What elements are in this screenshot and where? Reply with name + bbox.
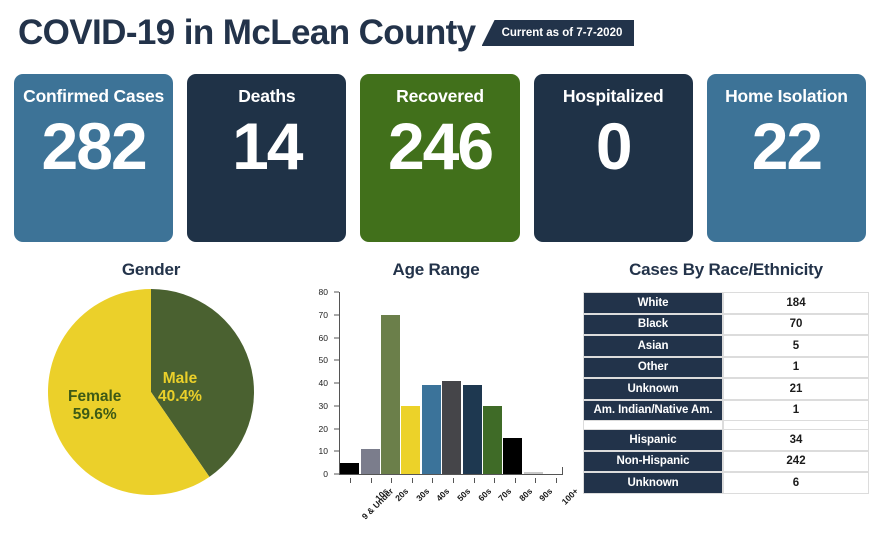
bar-slot <box>340 292 360 474</box>
y-axis-tick-label: 80 <box>319 287 328 297</box>
x-axis-labels: 9 & Under10s20s30s40s50s60s70s80s90s100+ <box>340 478 570 538</box>
table-row-value: 5 <box>723 335 869 357</box>
x-axis-line <box>339 474 563 475</box>
gender-chart-title: Gender <box>6 260 296 280</box>
page-title: COVID-19 in McLean County <box>18 13 476 53</box>
bar-slot <box>442 292 462 474</box>
table-row-label: Other <box>583 357 723 379</box>
table-row-value: 1 <box>723 400 869 422</box>
status-badge: Current as of 7-7-2020 <box>482 20 635 46</box>
age-range-chart: 01020304050607080 9 & Under10s20s30s40s5… <box>304 292 568 492</box>
stat-card-value: 22 <box>752 113 821 179</box>
bar-series <box>340 292 564 474</box>
x-axis-tick-mark <box>515 478 516 483</box>
x-axis-tick-label: 80s <box>517 486 534 503</box>
bar-slot <box>483 292 503 474</box>
table-row-label: White <box>583 292 723 314</box>
stat-card-home-isolation: Home Isolation22 <box>707 74 866 242</box>
y-axis-tick-label: 60 <box>319 333 328 343</box>
stat-card-value: 14 <box>232 113 301 179</box>
x-axis-tick-label: 70s <box>496 486 513 503</box>
table-row-value: 34 <box>723 429 869 451</box>
bar-slot <box>544 292 564 474</box>
pie-slice-label-male: Male 40.4% <box>158 370 202 405</box>
bar-60s <box>463 385 482 474</box>
bar-slot <box>421 292 441 474</box>
bar-slot <box>401 292 421 474</box>
pie-slice-label-female: Female 59.6% <box>68 388 121 423</box>
stat-card-hospitalized: Hospitalized0 <box>534 74 693 242</box>
table-spacer-cell <box>583 421 723 429</box>
table-row-label: Asian <box>583 335 723 357</box>
table-row-value: 21 <box>723 378 869 400</box>
covid-dashboard: COVID-19 in McLean County Current as of … <box>0 0 880 546</box>
table-row: Unknown21 <box>583 378 869 400</box>
stat-card-recovered: Recovered246 <box>360 74 519 242</box>
x-axis-tick-label: 40s <box>435 486 452 503</box>
x-axis-tick-mark <box>371 478 372 483</box>
age-range-chart-title: Age Range <box>296 260 576 280</box>
bar-10s <box>361 449 380 474</box>
bar-slot <box>360 292 380 474</box>
bar-40s <box>422 385 441 474</box>
race-table-title: Cases By Race/Ethnicity <box>578 260 874 280</box>
bar-slot <box>523 292 543 474</box>
charts-row: Gender Male 40.4% Female 59.6% Age Range… <box>0 250 880 546</box>
table-row-label: Black <box>583 314 723 336</box>
stat-card-value: 246 <box>388 113 492 179</box>
bar-50s <box>442 381 461 474</box>
race-ethnicity-table: White184Black70Asian5Other1Unknown21Am. … <box>583 292 869 494</box>
x-axis-tick-mark <box>474 478 475 483</box>
stat-card-label: Deaths <box>232 87 301 107</box>
x-axis-tick-mark <box>432 478 433 483</box>
race-ethnicity-panel: Cases By Race/Ethnicity White184Black70A… <box>578 260 874 494</box>
stat-card-deaths: Deaths14 <box>187 74 346 242</box>
stat-card-label: Home Isolation <box>719 87 854 107</box>
bar-9-under <box>340 463 359 474</box>
stat-card-label: Hospitalized <box>557 87 670 107</box>
x-axis-tick-label: 50s <box>455 486 472 503</box>
table-row: Am. Indian/Native Am.1 <box>583 400 869 422</box>
bar-90s <box>524 472 543 474</box>
stat-card-value: 282 <box>42 113 146 179</box>
bar-70s <box>483 406 502 474</box>
x-axis-tick-mark <box>556 478 557 483</box>
table-row: White184 <box>583 292 869 314</box>
table-row: Hispanic34 <box>583 429 869 451</box>
y-axis-tick-label: 20 <box>319 424 328 434</box>
table-row: Other1 <box>583 357 869 379</box>
bar-30s <box>401 406 420 474</box>
y-axis-tick-label: 30 <box>319 401 328 411</box>
x-axis-tick-mark <box>494 478 495 483</box>
table-row-value: 1 <box>723 357 869 379</box>
table-spacer-cell <box>723 421 869 429</box>
x-axis-tick-label: 90s <box>538 486 555 503</box>
table-row-label: Hispanic <box>583 429 723 451</box>
x-axis-tick-mark <box>453 478 454 483</box>
x-axis-tick-label: 30s <box>414 486 431 503</box>
stat-card-row: Confirmed Cases282Deaths14Recovered246Ho… <box>14 74 866 242</box>
bar-slot <box>462 292 482 474</box>
stat-card-label: Recovered <box>390 87 490 107</box>
table-row-label: Am. Indian/Native Am. <box>583 400 723 422</box>
y-axis-tick-label: 50 <box>319 355 328 365</box>
table-row-value: 184 <box>723 292 869 314</box>
x-axis-tick-label: 60s <box>476 486 493 503</box>
bar-20s <box>381 315 400 474</box>
x-axis-tick-mark <box>350 478 351 483</box>
y-axis-tick-label: 0 <box>323 469 328 479</box>
y-axis: 01020304050607080 <box>304 292 334 474</box>
table-row-label: Unknown <box>583 472 723 494</box>
age-range-chart-panel: Age Range 01020304050607080 9 & Under10s… <box>296 260 576 492</box>
table-row-label: Non-Hispanic <box>583 451 723 473</box>
table-row-label: Unknown <box>583 378 723 400</box>
table-row-value: 6 <box>723 472 869 494</box>
table-row: Non-Hispanic242 <box>583 451 869 473</box>
y-axis-tick-label: 70 <box>319 310 328 320</box>
gender-pie-chart: Male 40.4% Female 59.6% <box>46 288 256 496</box>
gender-chart-panel: Gender Male 40.4% Female 59.6% <box>6 260 296 496</box>
table-spacer-row <box>583 421 869 429</box>
current-as-of-badge-wrap: Current as of 7-7-2020 <box>482 20 635 46</box>
table-row: Asian5 <box>583 335 869 357</box>
stat-card-confirmed-cases: Confirmed Cases282 <box>14 74 173 242</box>
x-axis-tick-label: 20s <box>393 486 410 503</box>
stat-card-value: 0 <box>596 113 631 179</box>
table-row-value: 242 <box>723 451 869 473</box>
bar-slot <box>503 292 523 474</box>
table-row-value: 70 <box>723 314 869 336</box>
x-axis-tick-mark <box>412 478 413 483</box>
stat-card-label: Confirmed Cases <box>17 87 170 107</box>
dashboard-header: COVID-19 in McLean County Current as of … <box>0 0 880 66</box>
bar-slot <box>381 292 401 474</box>
table-row: Black70 <box>583 314 869 336</box>
x-axis-tick-mark <box>391 478 392 483</box>
y-axis-tick-label: 40 <box>319 378 328 388</box>
x-axis-tick-mark <box>535 478 536 483</box>
table-row: Unknown6 <box>583 472 869 494</box>
bar-80s <box>503 438 522 474</box>
y-axis-tick-label: 10 <box>319 446 328 456</box>
